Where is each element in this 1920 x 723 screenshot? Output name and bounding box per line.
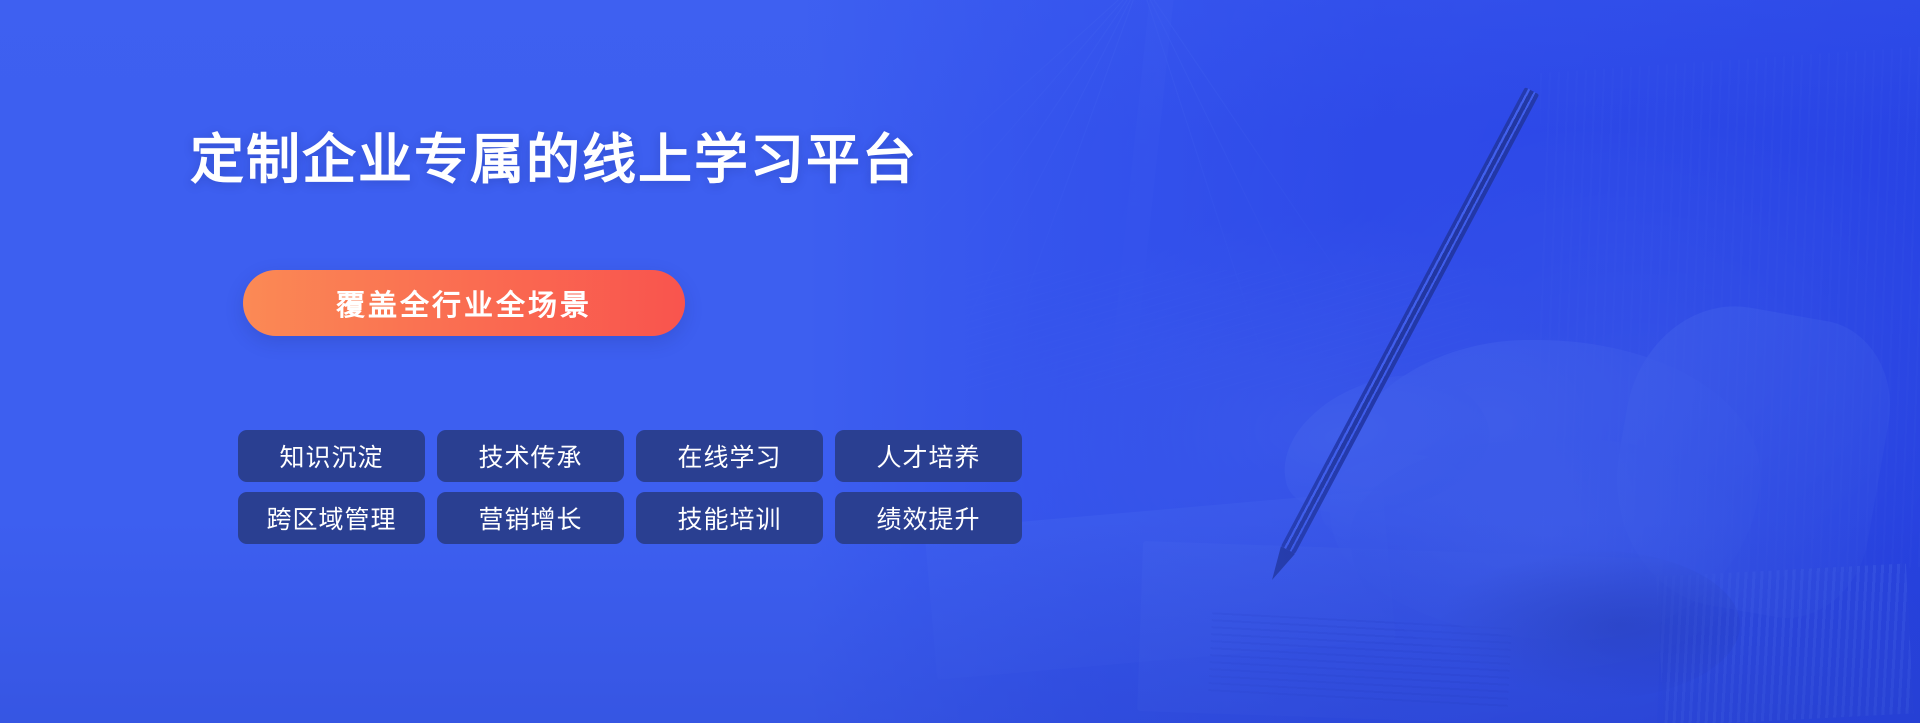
- tag-cross-region-management[interactable]: 跨区域管理: [238, 492, 425, 544]
- coverage-badge-label: 覆盖全行业全场景: [336, 282, 592, 324]
- coverage-badge[interactable]: 覆盖全行业全场景: [243, 270, 685, 336]
- tag-knowledge-precipitation[interactable]: 知识沉淀: [238, 430, 425, 482]
- tag-list: 知识沉淀 技术传承 在线学习 人才培养 跨区域管理 营销增长 技能培训 绩效提升: [238, 430, 1058, 544]
- tag-technology-inheritance[interactable]: 技术传承: [437, 430, 624, 482]
- hero-banner: 定制企业专属的线上学习平台 覆盖全行业全场景 知识沉淀 技术传承 在线学习 人才…: [0, 0, 1920, 723]
- tag-row: 知识沉淀 技术传承 在线学习 人才培养: [238, 430, 1058, 482]
- tag-skills-training[interactable]: 技能培训: [636, 492, 823, 544]
- tag-row: 跨区域管理 营销增长 技能培训 绩效提升: [238, 492, 1058, 544]
- tag-performance-improvement[interactable]: 绩效提升: [835, 492, 1022, 544]
- tag-online-learning[interactable]: 在线学习: [636, 430, 823, 482]
- page-title: 定制企业专属的线上学习平台: [190, 128, 918, 192]
- tag-marketing-growth[interactable]: 营销增长: [437, 492, 624, 544]
- tag-talent-cultivation[interactable]: 人才培养: [835, 430, 1022, 482]
- banner-content: 定制企业专属的线上学习平台 覆盖全行业全场景 知识沉淀 技术传承 在线学习 人才…: [0, 0, 1920, 723]
